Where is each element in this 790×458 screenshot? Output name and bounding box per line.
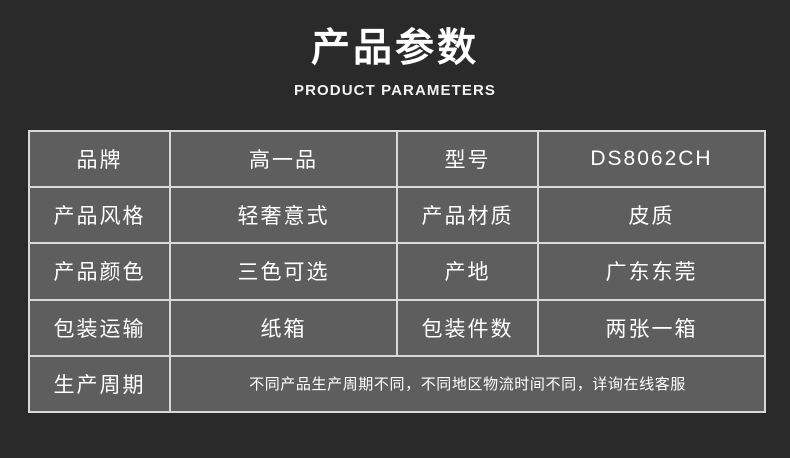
- param-label: 型号: [398, 132, 537, 186]
- production-cycle-note: 不同产品生产周期不同，不同地区物流时间不同，详询在线客服: [171, 357, 764, 411]
- page-subtitle: PRODUCT PARAMETERS: [0, 72, 790, 100]
- param-value: DS8062CH: [539, 132, 764, 186]
- param-value: 纸箱: [171, 301, 396, 355]
- product-parameters-table: 品牌 高一品 型号 DS8062CH 产品风格 轻奢意式 产品材质 皮质 产品颜…: [28, 130, 766, 413]
- param-label: 产品风格: [30, 188, 169, 242]
- table-row-production-cycle: 生产周期 不同产品生产周期不同，不同地区物流时间不同，详询在线客服: [30, 357, 764, 411]
- param-label: 产地: [398, 244, 537, 298]
- table-row: 品牌 高一品 型号 DS8062CH: [30, 132, 764, 186]
- param-value: 两张一箱: [539, 301, 764, 355]
- product-parameters-page: 产品参数 PRODUCT PARAMETERS 品牌 高一品 型号 DS8062…: [0, 0, 790, 458]
- page-title: 产品参数: [0, 0, 790, 72]
- param-label: 包装运输: [30, 301, 169, 355]
- param-label: 品牌: [30, 132, 169, 186]
- table-row: 包装运输 纸箱 包装件数 两张一箱: [30, 301, 764, 355]
- page-header: 产品参数 PRODUCT PARAMETERS: [0, 0, 790, 100]
- param-label: 产品材质: [398, 188, 537, 242]
- param-value: 皮质: [539, 188, 764, 242]
- table-row: 产品风格 轻奢意式 产品材质 皮质: [30, 188, 764, 242]
- param-label: 生产周期: [30, 357, 169, 411]
- param-label: 产品颜色: [30, 244, 169, 298]
- param-value: 高一品: [171, 132, 396, 186]
- param-value: 广东东莞: [539, 244, 764, 298]
- param-value: 三色可选: [171, 244, 396, 298]
- table-row: 产品颜色 三色可选 产地 广东东莞: [30, 244, 764, 298]
- param-value: 轻奢意式: [171, 188, 396, 242]
- param-label: 包装件数: [398, 301, 537, 355]
